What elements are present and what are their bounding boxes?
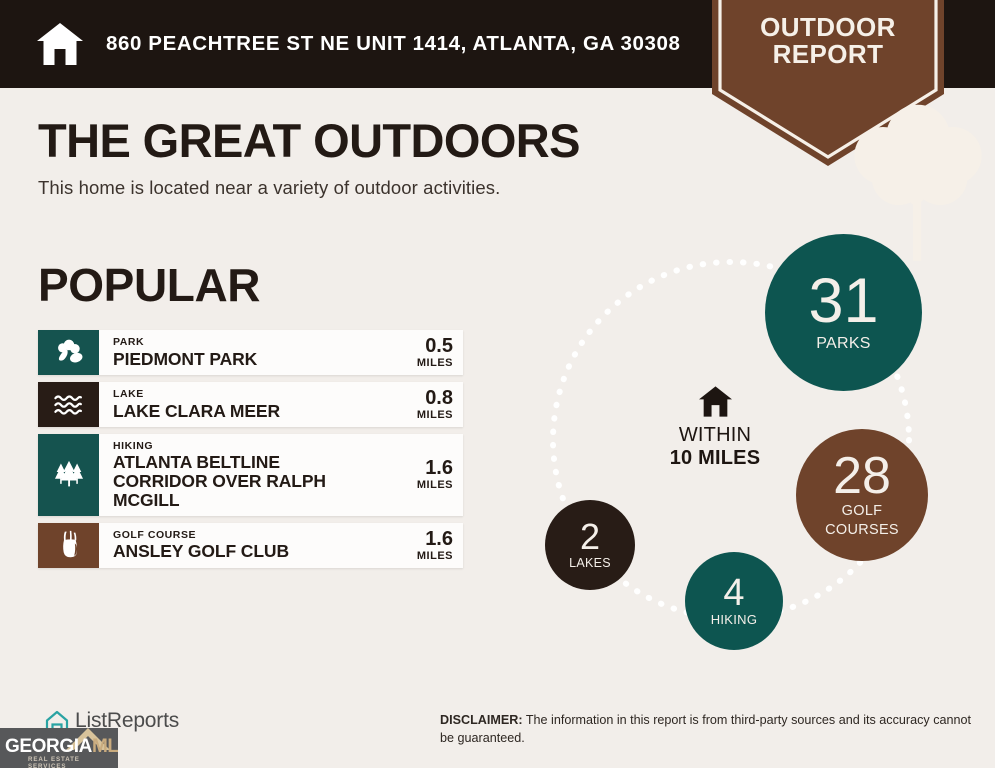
badge-title-line2: REPORT [712,41,944,68]
stat-count: 31 [808,272,878,332]
poi-distance-value: 0.8 [417,388,453,409]
poi-distance: 1.6 MILES [409,529,453,562]
water-waves-icon [38,382,99,427]
poi-distance-unit: MILES [417,550,453,562]
poi-distance-value: 1.6 [417,529,453,550]
pine-trees-icon [38,434,99,516]
home-icon [698,385,733,418]
georgia-mls-logo: GEORGIAMLS REAL ESTATE SERVICES [0,728,118,768]
poi-distance-unit: MILES [417,409,453,421]
poi-name: ATLANTA BELTLINE CORRIDOR OVER RALPH MCG… [113,453,363,510]
poi-distance-value: 1.6 [417,458,453,479]
poi-category: LAKE [113,388,280,401]
golf-bag-icon [38,523,99,568]
intro-block: THE GREAT OUTDOORS This home is located … [38,116,678,199]
page-subtitle: This home is located near a variety of o… [38,177,678,199]
poi-name: LAKE CLARA MEER [113,402,280,421]
within-10-miles-diagram: 31 PARKS 28 GOLF COURSES 2 LAKES 4 HIKIN… [515,225,985,665]
mls-word-georgia: GEORGIA [5,736,92,757]
mls-wordmark: GEORGIAMLS [5,736,118,758]
poi-name: PIEDMONT PARK [113,350,257,369]
stat-label: HIKING [711,613,758,627]
stat-count: 4 [723,575,744,611]
disclaimer: DISCLAIMER: The information in this repo… [440,712,980,748]
stat-count: 28 [833,452,891,501]
list-item[interactable]: HIKING ATLANTA BELTLINE CORRIDOR OVER RA… [38,434,463,516]
stat-circle-golf-courses: 28 GOLF COURSES [796,429,928,561]
popular-heading: POPULAR [38,258,260,312]
poi-distance-unit: MILES [417,479,453,491]
stat-circle-lakes: 2 LAKES [545,500,635,590]
mls-tagline: REAL ESTATE SERVICES [28,756,118,768]
stat-count: 2 [580,520,600,554]
stat-circle-hiking: 4 HIKING [685,552,783,650]
disclaimer-label: DISCLAIMER: [440,713,523,727]
poi-distance-value: 0.5 [417,336,453,357]
poi-distance: 0.5 MILES [409,336,453,369]
center-label-line2: 10 MILES [660,447,770,469]
mls-word-mls: MLS [92,736,118,757]
outdoor-report-badge: OUTDOOR REPORT [712,0,944,166]
stat-label-line2: COURSES [825,523,899,538]
park-tree-icon [38,330,99,375]
list-item[interactable]: LAKE LAKE CLARA MEER 0.8 MILES [38,382,463,427]
poi-distance-unit: MILES [417,357,453,369]
center-marker: WITHIN 10 MILES [660,385,770,469]
poi-name: ANSLEY GOLF CLUB [113,542,289,561]
stat-label-line1: GOLF [842,504,883,519]
list-item[interactable]: PARK PIEDMONT PARK 0.5 MILES [38,330,463,375]
center-label-line1: WITHIN [660,424,770,447]
stat-label: LAKES [569,557,611,570]
page-title: THE GREAT OUTDOORS [38,116,678,165]
badge-title: OUTDOOR REPORT [712,14,944,68]
stat-label: PARKS [816,336,871,353]
tree-icon [802,92,854,146]
list-item[interactable]: GOLF COURSE ANSLEY GOLF CLUB 1.6 MILES [38,523,463,568]
badge-title-line1: OUTDOOR [760,12,896,42]
property-address: 860 PEACHTREE ST NE UNIT 1414, ATLANTA, … [106,32,680,56]
home-icon [36,21,84,67]
poi-distance: 0.8 MILES [409,388,453,421]
poi-category: PARK [113,336,257,349]
poi-distance: 1.6 MILES [409,458,453,491]
popular-list: PARK PIEDMONT PARK 0.5 MILES LAKE LAK [38,330,463,575]
